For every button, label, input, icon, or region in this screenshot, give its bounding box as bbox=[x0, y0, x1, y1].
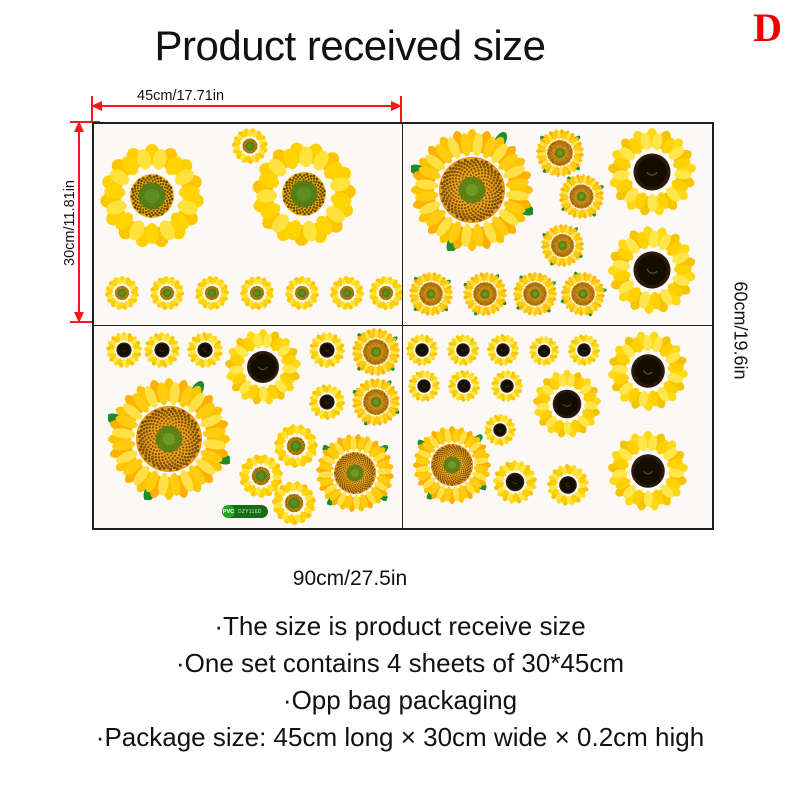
sunflower-decal bbox=[180, 326, 231, 375]
dimension-label-right: 60cm/19.6in bbox=[730, 251, 751, 411]
spec-line: ·Package size: 45cm long × 30cm wide × 0… bbox=[0, 719, 800, 756]
sunflower-decal bbox=[442, 329, 483, 370]
sunflower-decal bbox=[527, 334, 562, 369]
sunflower-decal bbox=[350, 376, 402, 428]
sunflower-decal bbox=[279, 270, 324, 315]
sunflower-decal bbox=[406, 334, 438, 366]
sunflower-decal bbox=[608, 128, 696, 216]
dimension-label-top: 45cm/17.71in bbox=[137, 88, 224, 104]
sunflower-decal bbox=[239, 275, 276, 312]
sunflower-decal bbox=[188, 269, 236, 317]
sunflower-decal bbox=[105, 276, 139, 310]
sheet-top-left bbox=[94, 124, 403, 326]
sheet-top-right bbox=[403, 124, 712, 326]
pvc-material-badge: PVC DZY116D bbox=[222, 505, 268, 518]
sunflower-decal bbox=[302, 377, 351, 426]
sunflower-decal bbox=[225, 329, 301, 405]
product-size-infographic: Product received size D 45cm/17.71in 30c… bbox=[0, 0, 800, 800]
sunflower-decal bbox=[306, 329, 348, 371]
page-title: Product received size bbox=[0, 22, 700, 70]
sunflower-decal bbox=[487, 454, 543, 510]
product-sheet-grid: PVC DZY116D bbox=[92, 122, 714, 530]
spec-line: ·Opp bag packaging bbox=[0, 682, 800, 719]
sunflower-decal bbox=[461, 270, 509, 318]
spec-line: ·One set contains 4 sheets of 30*45cm bbox=[0, 645, 800, 682]
sunflower-decal bbox=[608, 431, 688, 511]
variant-letter-badge: D bbox=[753, 8, 782, 48]
product-spec-list: ·The size is product receive size ·One s… bbox=[0, 608, 800, 756]
pvc-product-code: DZY116D bbox=[238, 509, 262, 515]
sunflower-decal bbox=[403, 265, 460, 323]
sunflower-decal bbox=[344, 326, 403, 384]
sunflower-decal bbox=[404, 366, 443, 405]
dimension-label-bottom: 90cm/27.5in bbox=[0, 567, 700, 591]
pvc-mark: PVC bbox=[222, 505, 235, 518]
sunflower-decal bbox=[490, 369, 525, 404]
dimension-label-left: 30cm/11.81in bbox=[62, 143, 78, 303]
spec-line: ·The size is product receive size bbox=[0, 608, 800, 645]
sunflower-decal bbox=[562, 328, 606, 372]
sunflower-decal bbox=[598, 216, 706, 324]
sheet-bottom-right bbox=[403, 326, 712, 528]
sunflower-decal bbox=[442, 364, 487, 409]
sunflower-decal bbox=[538, 455, 597, 514]
sunflower-decal bbox=[480, 327, 525, 372]
sunflower-decal bbox=[365, 272, 403, 314]
sunflower-decal bbox=[108, 378, 230, 500]
sunflower-decal bbox=[602, 326, 695, 417]
sunflower-decal bbox=[100, 144, 204, 248]
sunflower-decal bbox=[533, 370, 601, 438]
sunflower-decal bbox=[106, 332, 142, 368]
sunflower-decal bbox=[411, 129, 533, 251]
sheet-bottom-left bbox=[94, 326, 403, 528]
sunflower-decal bbox=[139, 327, 185, 373]
sunflower-decal bbox=[145, 271, 189, 315]
dimension-arrow-top bbox=[92, 105, 401, 107]
sunflower-decal bbox=[538, 221, 588, 271]
sunflower-decal bbox=[323, 269, 371, 317]
dimension-arrow-left bbox=[78, 122, 80, 322]
